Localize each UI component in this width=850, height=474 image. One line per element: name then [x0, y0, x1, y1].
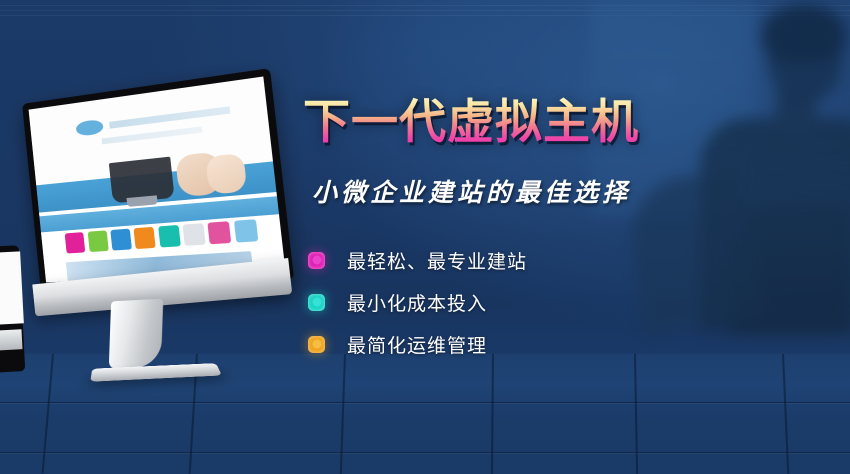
website-app-icon	[234, 220, 258, 243]
banner-subheadline: 小微企业建站的最佳选择	[312, 173, 723, 209]
feature-label: 最轻松、最专业建站	[347, 247, 527, 274]
bullet-dot-icon	[308, 336, 325, 353]
desktop-monitor	[18, 86, 296, 396]
banner-copy: 下一代虚拟主机 小微企业建站的最佳选择 最轻松、最专业建站 最小化成本投入 最简…	[303, 96, 723, 373]
monitor-bezel	[22, 68, 294, 291]
floor-horizontal-line	[0, 452, 850, 453]
promo-banner: 下一代虚拟主机 小微企业建站的最佳选择 最轻松、最专业建站 最小化成本投入 最简…	[0, 0, 850, 474]
website-product-base	[127, 195, 158, 207]
feature-label: 最小化成本投入	[347, 289, 487, 316]
website-app-icon	[183, 223, 206, 245]
website-app-icon	[87, 231, 108, 252]
feature-list-item: 最轻松、最专业建站	[308, 247, 723, 274]
feature-label: 最简化运维管理	[347, 331, 487, 358]
feature-list: 最轻松、最专业建站 最小化成本投入 最简化运维管理	[308, 247, 723, 358]
feature-list-item: 最小化成本投入	[308, 289, 723, 316]
feature-list-item: 最简化运维管理	[308, 331, 723, 358]
banner-headline: 下一代虚拟主机	[303, 96, 723, 149]
bullet-dot-icon	[308, 252, 325, 269]
website-app-icon	[158, 225, 181, 247]
website-app-icon	[65, 232, 86, 253]
monitor-screen	[29, 76, 286, 282]
person-hair	[762, 4, 846, 64]
website-app-icon	[208, 221, 232, 243]
floor-horizontal-line	[0, 402, 850, 403]
website-app-icon	[110, 229, 132, 250]
bullet-dot-icon	[308, 294, 325, 311]
website-app-icon	[134, 227, 156, 249]
monitor-stand-neck	[109, 299, 164, 370]
